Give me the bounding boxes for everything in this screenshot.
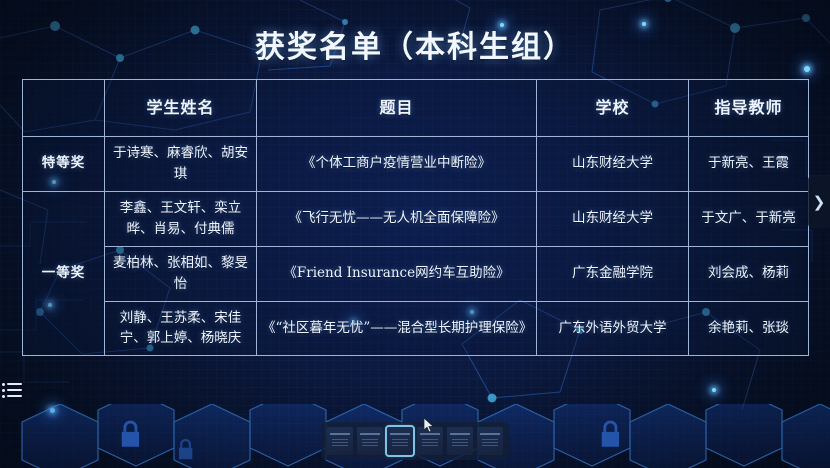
- topic-cell: 《飞行无忧——无人机全面保障险》: [257, 191, 537, 246]
- advisor-cell: 刘会成、杨莉: [689, 246, 809, 301]
- topic-cell: 《“社区暮年无忧”——混合型长期护理保险》: [257, 301, 537, 356]
- advisor-cell: 于新亮、王霞: [689, 137, 809, 192]
- school-cell: 山东财经大学: [537, 137, 689, 192]
- slide-thumbnail[interactable]: [327, 427, 353, 455]
- award-table: 学生姓名 题目 学校 指导教师 特等奖 于诗寒、麻睿欣、胡安琪 《个体工商户疫情…: [22, 79, 809, 356]
- slide-thumbnail-active[interactable]: [387, 427, 413, 455]
- student-names-cell: 刘静、王苏柔、宋佳宁、郭上婷、杨晓庆: [105, 301, 257, 356]
- table-row: 一等奖 李鑫、王文轩、栾立晔、肖易、付典儒 《飞行无忧——无人机全面保障险》 山…: [23, 191, 809, 246]
- page-title: 获奖名单（本科生组）: [0, 22, 830, 66]
- student-names-cell: 于诗寒、麻睿欣、胡安琪: [105, 137, 257, 192]
- slide-thumbnail[interactable]: [447, 427, 473, 455]
- slide-thumbnail-strip[interactable]: [321, 422, 509, 460]
- award-table-body: 学生姓名 题目 学校 指导教师 特等奖 于诗寒、麻睿欣、胡安琪 《个体工商户疫情…: [23, 80, 809, 356]
- student-names-cell: 李鑫、王文轩、栾立晔、肖易、付典儒: [105, 191, 257, 246]
- topic-cell: 《Friend Insurance网约车互助险》: [257, 246, 537, 301]
- table-row: 刘静、王苏柔、宋佳宁、郭上婷、杨晓庆 《“社区暮年无忧”——混合型长期护理保险》…: [23, 301, 809, 356]
- header-cell-advisor: 指导教师: [689, 80, 809, 137]
- topic-cell: 《个体工商户疫情营业中断险》: [257, 137, 537, 192]
- advisor-cell: 余艳莉、张琰: [689, 301, 809, 356]
- glow-dot: [804, 66, 810, 72]
- advisor-cell: 于文广、于新亮: [689, 191, 809, 246]
- header-cell-school: 学校: [537, 80, 689, 137]
- header-cell-topic: 题目: [257, 80, 537, 137]
- header-cell-student-name: 学生姓名: [105, 80, 257, 137]
- slide-thumbnail[interactable]: [477, 427, 503, 455]
- award-level-cell: 特等奖: [23, 137, 105, 192]
- header-cell-blank: [23, 80, 105, 137]
- table-row: 特等奖 于诗寒、麻睿欣、胡安琪 《个体工商户疫情营业中断险》 山东财经大学 于新…: [23, 137, 809, 192]
- slide-stage: 获奖名单（本科生组） 学生姓名 题目 学校 指导教师 特等奖 于诗寒、麻睿欣、胡…: [0, 0, 830, 468]
- school-cell: 广东外语外贸大学: [537, 301, 689, 356]
- next-slide-button[interactable]: ❯: [808, 176, 830, 228]
- list-menu-icon[interactable]: [2, 378, 22, 402]
- award-level-cell: 一等奖: [23, 191, 105, 356]
- school-cell: 山东财经大学: [537, 191, 689, 246]
- glow-dot: [712, 388, 716, 392]
- mouse-cursor: [424, 418, 434, 433]
- student-names-cell: 麦柏林、张相如、黎旻怡: [105, 246, 257, 301]
- slide-thumbnail[interactable]: [357, 427, 383, 455]
- table-header-row: 学生姓名 题目 学校 指导教师: [23, 80, 809, 137]
- school-cell: 广东金融学院: [537, 246, 689, 301]
- award-table-wrapper: 学生姓名 题目 学校 指导教师 特等奖 于诗寒、麻睿欣、胡安琪 《个体工商户疫情…: [22, 79, 808, 356]
- table-row: 麦柏林、张相如、黎旻怡 《Friend Insurance网约车互助险》 广东金…: [23, 246, 809, 301]
